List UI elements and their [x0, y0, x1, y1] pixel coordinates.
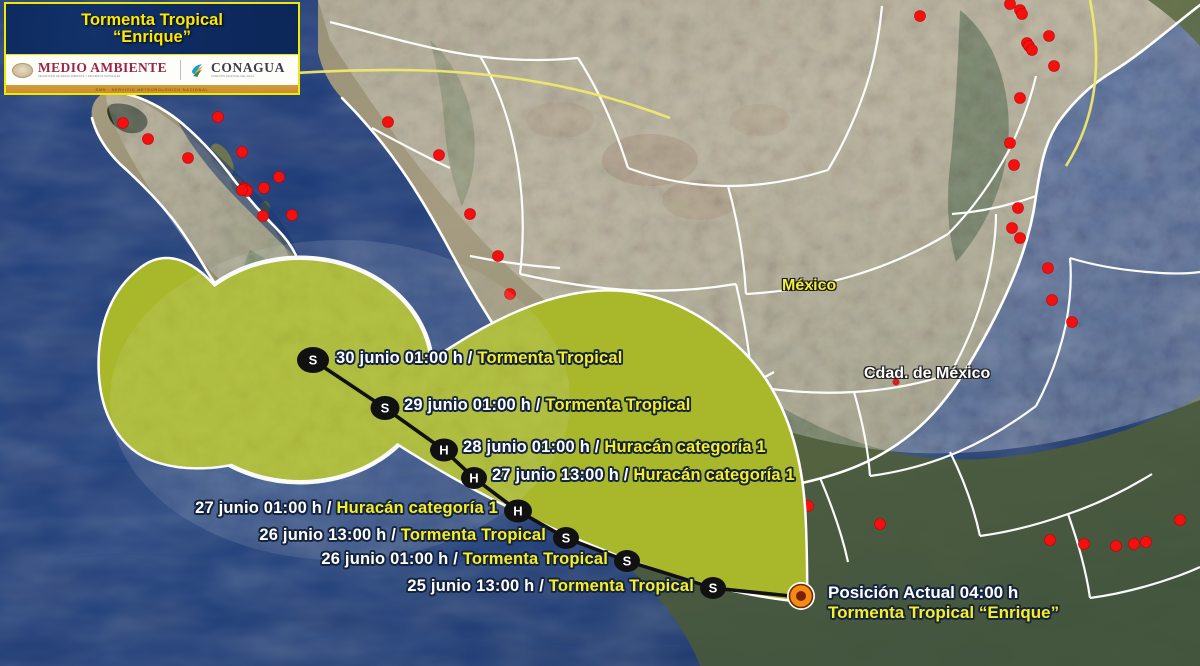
track-label-27jun13[interactable]: 27 junio 13:00 h / Huracán categoría 1 — [492, 467, 795, 484]
track-label-separator: / — [539, 577, 544, 595]
medio-ambiente-label: MEDIO AMBIENTE — [38, 61, 167, 75]
track-label-28jun01[interactable]: 28 junio 01:00 h / Huracán categoría 1 — [463, 439, 766, 456]
track-node-letter: S — [309, 353, 318, 368]
medio-ambiente-logo: MEDIO AMBIENTE SECRETARÍA DE MEDIO AMBIE… — [6, 55, 180, 85]
conagua-water-icon — [189, 62, 206, 79]
current-position-name: Tormenta Tropical “Enrique” — [828, 603, 1059, 623]
track-node-letter: S — [709, 581, 718, 596]
track-label-25jun13[interactable]: 25 junio 13:00 h / Tormenta Tropical — [0, 578, 694, 595]
track-label-separator: / — [327, 499, 332, 517]
track-label-date: 27 junio 01:00 h — [195, 499, 322, 517]
conagua-logo: CONAGUA COMISIÓN NACIONAL DEL AGUA — [181, 55, 298, 85]
track-node-letter: S — [381, 401, 390, 416]
banner-title-line2: “Enrique” — [113, 29, 191, 46]
track-label-category: Tormenta Tropical — [549, 577, 694, 595]
banner-bottom-strip: SMN · SERVICIO METEOROLÓGICO NACIONAL — [6, 85, 298, 93]
track-label-date: 25 junio 13:00 h — [407, 577, 534, 595]
track-node-letter: H — [439, 443, 448, 458]
track-label-date: 30 junio 01:00 h — [336, 349, 463, 367]
banner-title-line1: Tormenta Tropical — [81, 12, 223, 29]
track-node-letter: H — [469, 471, 478, 486]
track-label-separator: / — [624, 466, 629, 484]
track-label-category: Huracán categoría 1 — [633, 466, 795, 484]
track-label-category: Huracán categoría 1 — [336, 499, 498, 517]
hurricane-track-map: S S H H H S S S 30 junio 01:00 h / Torme… — [0, 0, 1200, 666]
track-label-27jun01[interactable]: 27 junio 01:00 h / Huracán categoría 1 — [0, 500, 498, 517]
track-label-date: 26 junio 13:00 h — [259, 526, 386, 544]
track-label-category: Huracán categoría 1 — [604, 438, 766, 456]
banner-title-block: Tormenta Tropical “Enrique” — [6, 4, 298, 54]
banner-logo-row: MEDIO AMBIENTE SECRETARÍA DE MEDIO AMBIE… — [6, 54, 298, 85]
track-label-separator: / — [595, 438, 600, 456]
track-label-category: Tormenta Tropical — [463, 550, 608, 568]
track-node-letter: S — [623, 554, 632, 569]
conagua-label: CONAGUA — [211, 61, 285, 75]
track-label-date: 26 junio 01:00 h — [321, 550, 448, 568]
conagua-sublabel: COMISIÓN NACIONAL DEL AGUA — [211, 76, 285, 79]
track-node-letter: H — [513, 504, 522, 519]
track-label-separator: / — [536, 396, 541, 414]
track-label-separator: / — [391, 526, 396, 544]
track-label-separator: / — [453, 550, 458, 568]
current-position-time: Posición Actual 04:00 h — [828, 583, 1059, 603]
track-label-category: Tormenta Tropical — [545, 396, 690, 414]
track-label-date: 29 junio 01:00 h — [404, 396, 531, 414]
track-label-30jun01[interactable]: 30 junio 01:00 h / Tormenta Tropical — [336, 350, 623, 367]
track-label-separator: / — [468, 349, 473, 367]
mexico-city-dot — [892, 378, 899, 385]
track-label-26jun13[interactable]: 26 junio 13:00 h / Tormenta Tropical — [0, 527, 546, 544]
track-label-26jun01[interactable]: 26 junio 01:00 h / Tormenta Tropical — [0, 551, 608, 568]
mexican-eagle-seal-icon — [12, 63, 33, 78]
current-position-callout[interactable]: Posición Actual 04:00 h Tormenta Tropica… — [828, 583, 1059, 623]
track-label-category: Tormenta Tropical — [401, 526, 546, 544]
header-banner: Tormenta Tropical “Enrique” MEDIO AMBIEN… — [4, 2, 300, 95]
medio-ambiente-sublabel: SECRETARÍA DE MEDIO AMBIENTE Y RECURSOS … — [38, 76, 167, 79]
track-label-29jun01[interactable]: 29 junio 01:00 h / Tormenta Tropical — [404, 397, 691, 414]
track-node-letter: S — [562, 531, 571, 546]
track-label-category: Tormenta Tropical — [477, 349, 622, 367]
current-position-marker — [787, 582, 815, 610]
track-label-date: 28 junio 01:00 h — [463, 438, 590, 456]
track-label-date: 27 junio 13:00 h — [492, 466, 619, 484]
